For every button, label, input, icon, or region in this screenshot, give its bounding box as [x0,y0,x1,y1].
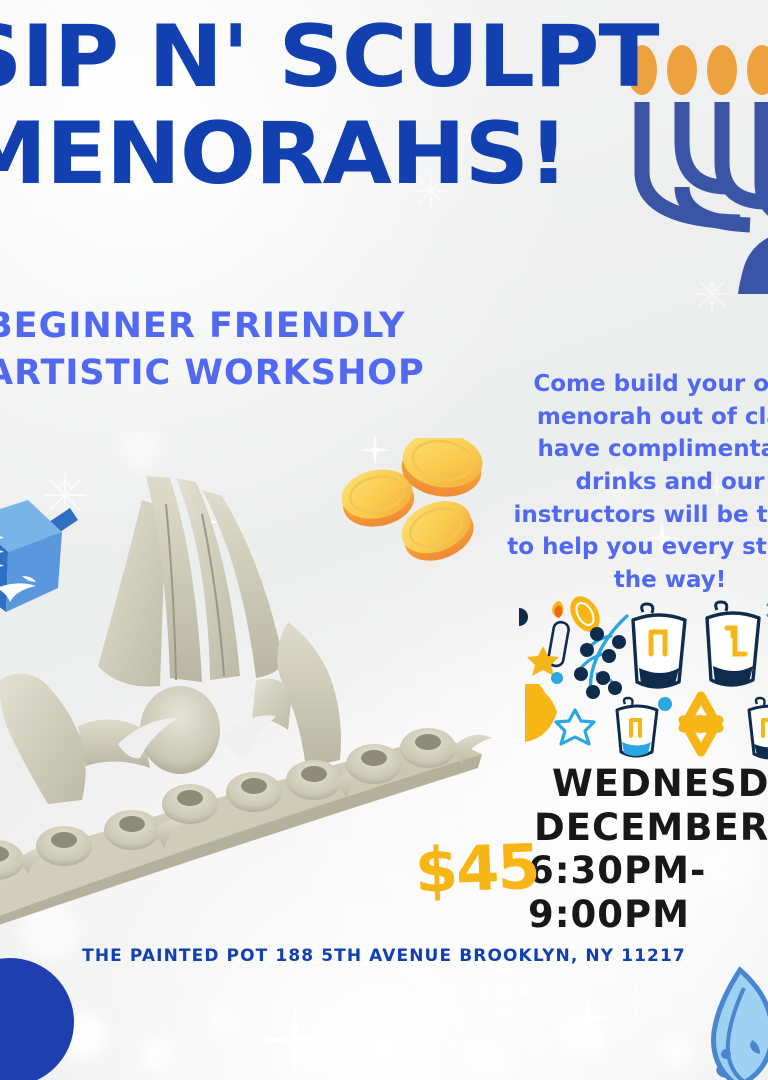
subtitle-block: Beginner Friendly Artistic Workshop [0,303,456,398]
star-icon [527,646,559,676]
half-circle-icon [519,608,528,626]
dreidel-icon [617,698,657,756]
flyer-canvas: SIP N' SCULPT MENORAHS! Beginner Friendl… [0,0,768,1080]
gelt-coins-icon [330,438,510,590]
bokeh-dot [140,1038,174,1072]
bokeh-dot [660,1036,692,1068]
venue-address: The Painted Pot 188 5th Avenue Brooklyn,… [0,946,768,966]
snowflake-icon [380,970,470,1060]
star-outline-icon [556,710,594,744]
subtitle-line-2: Artistic Workshop [0,350,456,397]
snowflake-icon [612,978,660,1026]
corner-circle-decoration [0,958,74,1080]
dot-icon [551,672,563,684]
flame-icon [696,962,768,1080]
dreidel-icon [0,492,84,620]
bokeh-dot [470,1040,506,1076]
dreidel-icon [633,604,685,688]
title-block: SIP N' SCULPT MENORAHS! [0,18,598,194]
dreidel-icon [749,698,768,758]
bokeh-dot [560,1012,604,1056]
snowflake-icon [470,958,538,1026]
bokeh-dot [300,1032,340,1072]
price-badge: $45 [414,830,540,907]
sparkle-icon [255,1000,335,1080]
bokeh-dot [390,1008,420,1038]
dreidel-icon [707,602,759,686]
title-line-2: MENORAHS! [0,115,624,194]
bokeh-dot [210,1006,238,1034]
snowflake-icon [300,988,354,1042]
bokeh-dot [120,430,160,470]
star-of-david-icon [683,696,719,752]
sparkle-icon [560,990,616,1046]
title-line-1: SIP N' SCULPT [0,18,624,97]
body-copy: Come build your own menorah out of clay,… [505,368,768,597]
subtitle-line-1: Beginner Friendly [0,303,456,350]
dot-icon [658,697,672,711]
event-time: 6:30PM-9:00PM [528,849,768,936]
event-date: December 18 [528,806,768,850]
event-day: Wednesday [528,762,768,806]
hanukkah-sticker-cluster [505,592,768,762]
event-date-block: Wednesday December 18 6:30PM-9:00PM [528,762,768,937]
